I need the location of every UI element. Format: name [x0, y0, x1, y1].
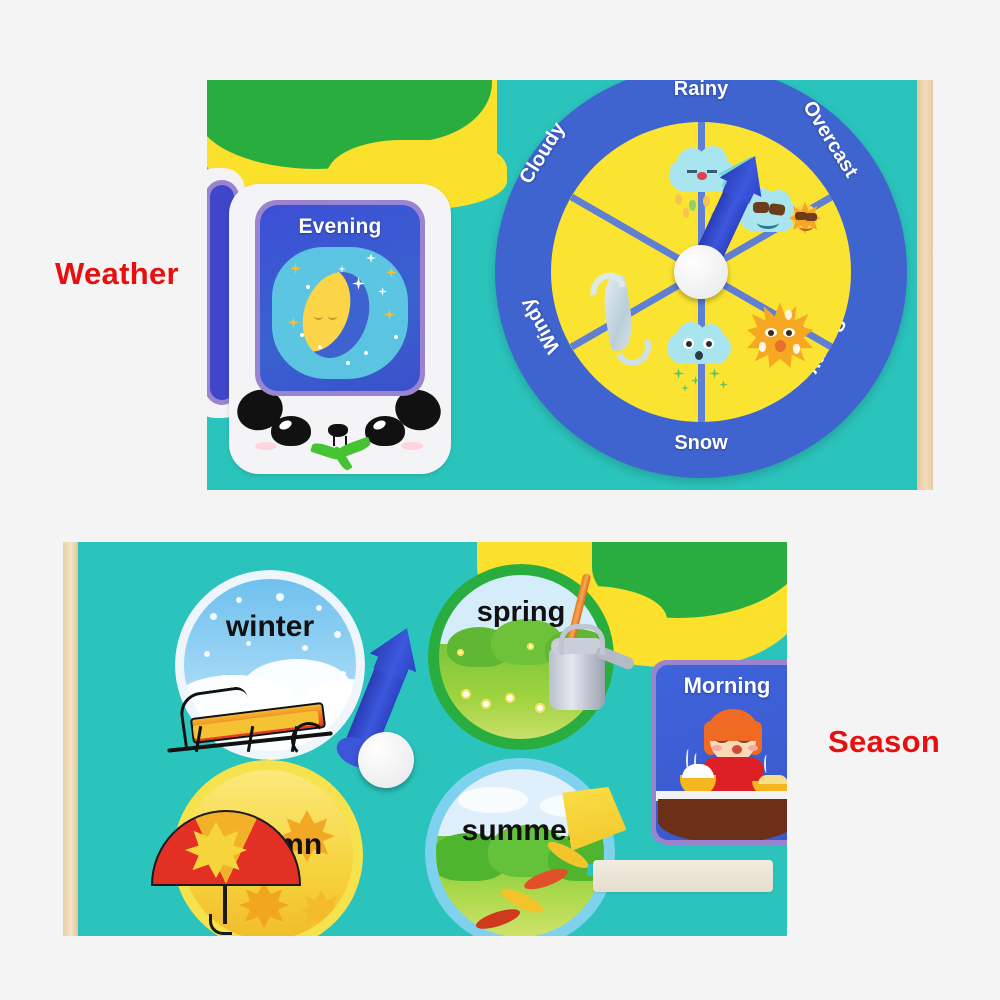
evening-label: Evening	[260, 215, 420, 239]
caption-season: Season	[828, 724, 940, 760]
steam-icon	[686, 749, 691, 771]
evening-screen-frame: Evening	[255, 200, 425, 396]
kid-cheek-left	[712, 745, 722, 751]
umbrella-leaves-icon	[151, 810, 301, 930]
wheel-label-rainy: Rainy	[674, 80, 728, 101]
star-dot-icon	[306, 285, 310, 289]
kid-eye-left	[716, 737, 728, 743]
weather-panel: Evening	[207, 80, 933, 490]
sun-face-icon	[743, 298, 821, 376]
evening-time-card[interactable]: Evening	[229, 184, 451, 474]
food-icon	[758, 775, 787, 784]
evening-screen: Evening	[260, 205, 420, 391]
season-hub-knob[interactable]	[358, 732, 414, 788]
star-dot-icon	[300, 333, 304, 337]
star-dot-icon	[346, 361, 350, 365]
weather-board: Evening	[207, 80, 933, 490]
wheel-label-snow: Snow	[674, 432, 727, 455]
sled-icon	[163, 682, 353, 768]
star-dot-icon	[318, 345, 322, 349]
season-label-winter: winter	[175, 610, 365, 644]
star-dot-icon	[394, 335, 398, 339]
kite-tail	[493, 838, 613, 928]
moon-face-icon	[314, 313, 340, 329]
kid-mouth-icon	[732, 745, 742, 754]
wood-edge-right	[917, 80, 933, 490]
wind-swirl-icon	[587, 272, 651, 356]
bamboo-leaf-icon	[311, 440, 373, 474]
kid-eye-right	[738, 737, 750, 743]
panda-cheek-left	[255, 442, 277, 450]
season-panel: winter	[63, 542, 787, 936]
snow-cloud-icon	[661, 318, 739, 396]
panda-cheek-right	[401, 442, 423, 450]
morning-label: Morning	[656, 673, 787, 699]
wheel-hub-knob[interactable]	[674, 245, 728, 299]
morning-screen: Morning	[656, 665, 787, 840]
weather-wheel[interactable]: Rainy Overcast Sunny Snow Windy Cloudy	[495, 80, 907, 478]
steam-icon	[694, 753, 699, 771]
kite-icon	[533, 768, 663, 898]
caption-weather: Weather	[55, 256, 179, 292]
watering-can-icon	[533, 626, 629, 718]
wood-edge-left	[63, 542, 78, 936]
steam-icon	[764, 755, 769, 773]
star-dot-icon	[364, 351, 368, 355]
screenshot-stage: Evening	[0, 0, 1000, 1000]
table-body	[658, 799, 787, 840]
kid-hair-icon	[706, 709, 760, 741]
morning-time-card[interactable]: Morning	[651, 660, 787, 845]
season-board: winter	[63, 542, 787, 936]
kid-cheek-right	[748, 745, 758, 751]
panda-eye-left-icon	[271, 416, 311, 446]
